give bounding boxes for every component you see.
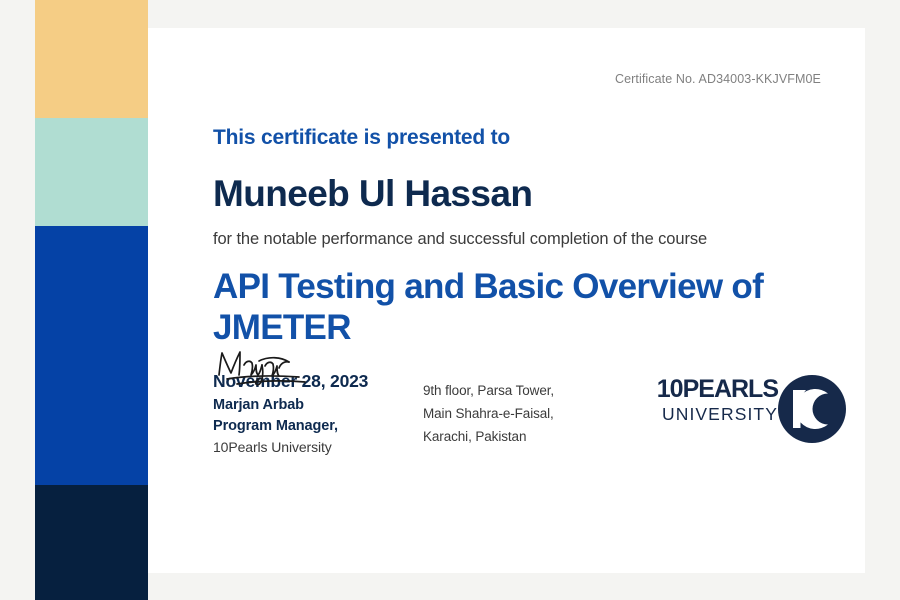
achievement-subtitle: for the notable performance and successf… [213, 230, 833, 249]
color-band-blue [35, 226, 148, 485]
presented-to-label: This certificate is presented to [213, 126, 833, 150]
certificate-document: Certificate No. AD34003-KKJVFM0E This ce… [0, 0, 900, 600]
address-line: Karachi, Pakistan [423, 429, 623, 444]
recipient-name: Muneeb Ul Hassan [213, 175, 833, 214]
color-band-strip [35, 0, 148, 600]
address-line: 9th floor, Parsa Tower, [423, 383, 623, 398]
color-band-gold [35, 0, 148, 118]
certificate-number: Certificate No. AD34003-KKJVFM0E [615, 72, 821, 86]
signatory-name: Marjan Arbab [213, 397, 393, 413]
color-band-navy [35, 485, 148, 600]
ten-pearls-circle-icon [776, 373, 848, 445]
course-title: API Testing and Basic Overview of JMETER [213, 267, 813, 349]
signature-block: Marjan Arbab Program Manager, 10Pearls U… [213, 348, 393, 455]
handwritten-signature-icon [213, 348, 318, 390]
signatory-organization: 10Pearls University [213, 439, 393, 455]
certificate-footer: Marjan Arbab Program Manager, 10Pearls U… [213, 348, 873, 468]
signatory-role: Program Manager, [213, 418, 393, 434]
color-band-mint [35, 118, 148, 226]
logo-wordmark-primary: 10PEARLS [638, 377, 778, 402]
logo-wordmark: 10PEARLS UNIVERSITY [638, 377, 778, 424]
certificate-card: Certificate No. AD34003-KKJVFM0E This ce… [148, 28, 865, 573]
address-block: 9th floor, Parsa Tower, Main Shahra-e-Fa… [423, 383, 623, 444]
logo-wordmark-secondary: UNIVERSITY [638, 406, 778, 424]
address-line: Main Shahra-e-Faisal, [423, 406, 623, 421]
organization-logo: 10PEARLS UNIVERSITY [638, 373, 868, 448]
